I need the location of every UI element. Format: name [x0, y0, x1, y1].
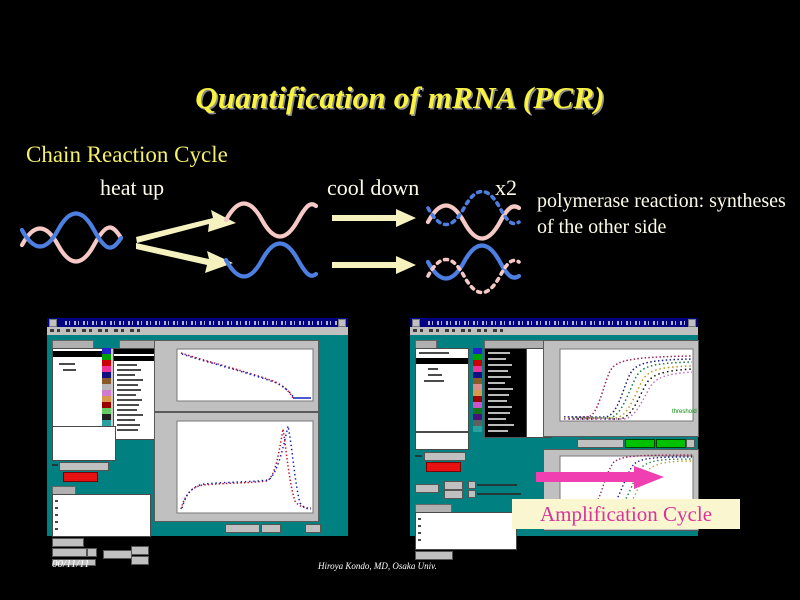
method-dropdown[interactable]	[424, 452, 466, 461]
amplification-cycle-label: Amplification Cycle	[512, 499, 740, 529]
sample-selected-row[interactable]	[114, 349, 156, 354]
amplification-curve-chart: threshold	[544, 341, 698, 436]
double-helix-icon	[22, 214, 121, 262]
list-item[interactable]	[488, 394, 509, 396]
secondary-list-panel[interactable]	[52, 426, 116, 461]
checkbox-option-2[interactable]	[468, 490, 476, 498]
dropdown-label	[415, 455, 422, 457]
color-palette-strip[interactable]	[102, 348, 111, 432]
list-item[interactable]	[117, 419, 135, 421]
units-selector-2[interactable]	[131, 556, 149, 565]
window-icon	[49, 319, 57, 327]
table-row	[55, 507, 58, 509]
raw-data-dropdown[interactable]	[415, 551, 453, 560]
amplification-arrow	[536, 466, 664, 490]
derivative-peak-frame	[154, 412, 319, 522]
table-row	[55, 514, 58, 516]
sample-selected-row[interactable]	[114, 356, 156, 361]
options-field[interactable]	[52, 548, 87, 557]
plot-green-button-1[interactable]	[625, 439, 655, 448]
list-item[interactable]	[117, 409, 137, 411]
raw-data-panel[interactable]	[415, 512, 517, 550]
svg-text:threshold: threshold	[672, 409, 697, 415]
dna-replication-diagram	[0, 190, 540, 300]
footer-date: 00/11/11	[52, 558, 89, 570]
list-item[interactable]	[117, 424, 140, 426]
list-item[interactable]	[488, 382, 505, 384]
plot-green-button-2[interactable]	[656, 439, 686, 448]
zoom-selector[interactable]	[103, 550, 132, 559]
color-palette-strip[interactable]	[473, 348, 482, 432]
list-item[interactable]	[488, 388, 513, 390]
tree-item[interactable]	[428, 374, 442, 376]
sample-list-panel-dark[interactable]	[484, 348, 528, 438]
table-row	[418, 518, 421, 520]
list-item[interactable]	[488, 370, 508, 372]
derivative-peak-chart	[155, 413, 318, 521]
filter-dropdown[interactable]	[52, 538, 84, 547]
section-heading: Chain Reaction Cycle	[26, 142, 228, 168]
table-row	[418, 539, 421, 541]
sample-list-panel[interactable]	[113, 348, 157, 440]
footer-author: Hiroya Kondo, MD, Osaka Univ.	[318, 561, 437, 571]
window-close-icon[interactable]	[338, 319, 346, 327]
list-item[interactable]	[488, 352, 510, 354]
list-item[interactable]	[488, 412, 510, 414]
list-item[interactable]	[117, 404, 139, 406]
list-item[interactable]	[117, 364, 137, 366]
polymerase-note: polymerase reaction: syntheses of the ot…	[537, 188, 789, 240]
list-item[interactable]	[488, 364, 512, 366]
table-row	[418, 532, 421, 534]
plot-toolbar-button[interactable]	[577, 439, 624, 448]
tree-selected-row[interactable]	[416, 358, 468, 364]
plot-close-button[interactable]	[305, 524, 321, 533]
list-item[interactable]	[488, 424, 514, 426]
list-item[interactable]	[488, 430, 508, 432]
list-item[interactable]	[117, 399, 142, 401]
window-icon	[412, 319, 420, 327]
melting-curve-frame	[154, 340, 319, 412]
tree-item[interactable]	[419, 352, 449, 354]
plot-extra-button[interactable]	[686, 439, 695, 448]
melting-curve-chart	[155, 341, 318, 411]
window-titlebar[interactable]	[47, 318, 348, 327]
screenshot-window-left[interactable]	[46, 317, 349, 537]
table-row	[55, 500, 58, 502]
plot-action-button[interactable]	[225, 524, 260, 533]
tree-item[interactable]	[59, 363, 75, 365]
window-menubar[interactable]	[410, 327, 698, 335]
mode-dropdown[interactable]	[444, 481, 463, 490]
table-row	[55, 521, 58, 523]
list-item[interactable]	[117, 414, 143, 416]
list-item[interactable]	[117, 429, 138, 431]
separated-strand-top	[226, 204, 316, 237]
tree-item[interactable]	[424, 380, 444, 382]
results-table-panel[interactable]	[52, 494, 151, 537]
new-duplex-bottom	[428, 246, 519, 293]
list-item[interactable]	[117, 374, 135, 376]
list-item[interactable]	[117, 384, 138, 386]
page-title: Quantification of mRNA (PCR)	[0, 80, 800, 116]
run-button-right[interactable]	[426, 462, 461, 472]
spin-control[interactable]	[87, 548, 97, 557]
dna-schematic-svg	[0, 190, 540, 300]
window-titlebar[interactable]	[410, 318, 698, 327]
secondary-list-panel[interactable]	[415, 432, 469, 450]
table-row	[418, 525, 421, 527]
tree-item[interactable]	[63, 369, 76, 371]
list-item[interactable]	[117, 389, 141, 391]
window-close-icon[interactable]	[688, 319, 696, 327]
synthesis-arrow-icon	[332, 209, 416, 274]
amplification-curve-frame: threshold	[543, 340, 699, 437]
table-row	[55, 528, 58, 530]
list-item[interactable]	[488, 406, 512, 408]
range-field[interactable]	[415, 484, 439, 493]
window-title-text	[65, 321, 338, 325]
list-item[interactable]	[117, 394, 136, 396]
new-duplex-top	[428, 192, 519, 239]
list-item[interactable]	[117, 379, 143, 381]
dropdown-label	[52, 464, 58, 466]
file-tree-panel[interactable]	[415, 348, 469, 432]
list-item[interactable]	[488, 400, 507, 402]
slide-canvas: Quantification of mRNA (PCR) Chain React…	[0, 0, 800, 600]
checkbox-label-2	[477, 493, 521, 495]
units-selector[interactable]	[131, 546, 149, 555]
list-item[interactable]	[488, 358, 506, 360]
list-item[interactable]	[117, 369, 141, 371]
checkbox-option-1[interactable]	[468, 481, 476, 489]
split-arrow-icon	[136, 210, 236, 273]
right-arrow-icon	[536, 466, 664, 490]
window-menubar[interactable]	[47, 327, 348, 335]
separated-strand-bottom	[226, 244, 316, 277]
mode-dropdown-2[interactable]	[444, 490, 463, 499]
checkbox-label-1	[477, 484, 517, 486]
run-button-left[interactable]	[63, 472, 98, 482]
list-item[interactable]	[488, 376, 511, 378]
list-item[interactable]	[488, 418, 506, 420]
tree-item[interactable]	[428, 368, 438, 370]
method-dropdown[interactable]	[59, 462, 109, 471]
window-title-text	[428, 321, 688, 325]
plot-action-button-2[interactable]	[261, 524, 281, 533]
